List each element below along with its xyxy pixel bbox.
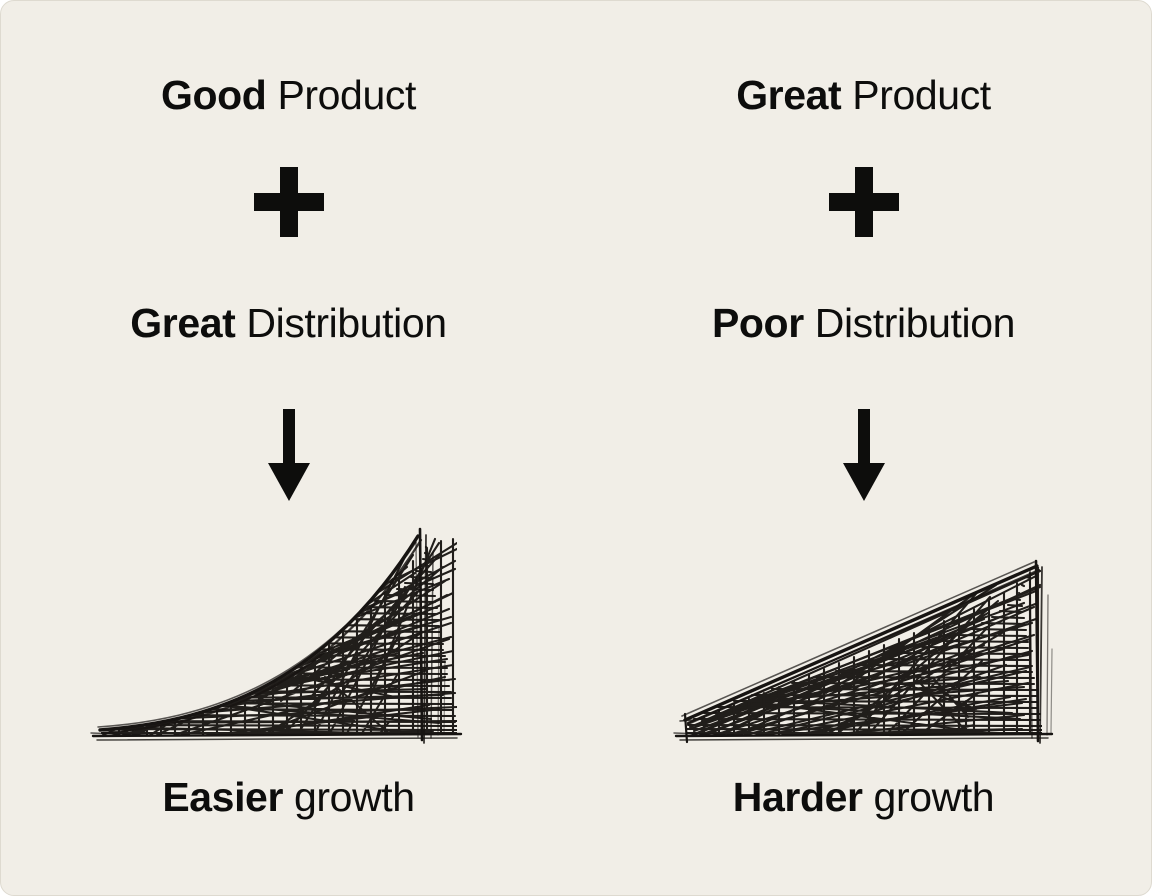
product-headline-left: Good Product — [1, 75, 576, 116]
arrow-head — [268, 463, 310, 501]
plus-icon — [829, 167, 899, 237]
arrow-down-icon-wrap-left — [1, 409, 576, 501]
outcome-headline-right: Harder growth — [576, 777, 1151, 818]
comparison-columns: Good Product Great Distribution — [1, 1, 1151, 895]
linear-growth-chart — [664, 509, 1064, 759]
outcome-rest-right: growth — [863, 774, 995, 820]
product-headline-right: Great Product — [576, 75, 1151, 116]
plus-icon — [254, 167, 324, 237]
distribution-headline-right: Poor Distribution — [576, 303, 1151, 344]
plus-icon-wrap-left — [1, 167, 576, 237]
distribution-rest-left: Distribution — [235, 300, 446, 346]
distribution-emphasis-right: Poor — [712, 300, 804, 346]
outcome-headline-left: Easier growth — [1, 777, 576, 818]
product-rest-left: Product — [266, 72, 416, 118]
outcome-emphasis-left: Easier — [162, 774, 283, 820]
arrow-down-icon — [837, 409, 891, 501]
chart-wrap-right — [576, 509, 1151, 759]
column-great-product: Great Product Poor Distribution — [576, 1, 1151, 895]
distribution-headline-left: Great Distribution — [1, 303, 576, 344]
distribution-rest-right: Distribution — [804, 300, 1015, 346]
arrow-head — [843, 463, 885, 501]
arrow-down-icon-wrap-right — [576, 409, 1151, 501]
plus-icon-wrap-right — [576, 167, 1151, 237]
arrow-down-icon — [262, 409, 316, 501]
product-emphasis-right: Great — [736, 72, 841, 118]
exponential-growth-chart — [89, 509, 489, 759]
outcome-rest-left: growth — [283, 774, 415, 820]
arrow-shaft — [283, 409, 295, 471]
product-emphasis-left: Good — [161, 72, 266, 118]
diagram-canvas: Good Product Great Distribution — [0, 0, 1152, 896]
distribution-emphasis-left: Great — [130, 300, 235, 346]
column-good-product: Good Product Great Distribution — [1, 1, 576, 895]
scribble-fill-exponential — [101, 539, 457, 737]
product-rest-right: Product — [841, 72, 991, 118]
outcome-emphasis-right: Harder — [733, 774, 863, 820]
arrow-shaft — [858, 409, 870, 471]
chart-wrap-left — [1, 509, 576, 759]
